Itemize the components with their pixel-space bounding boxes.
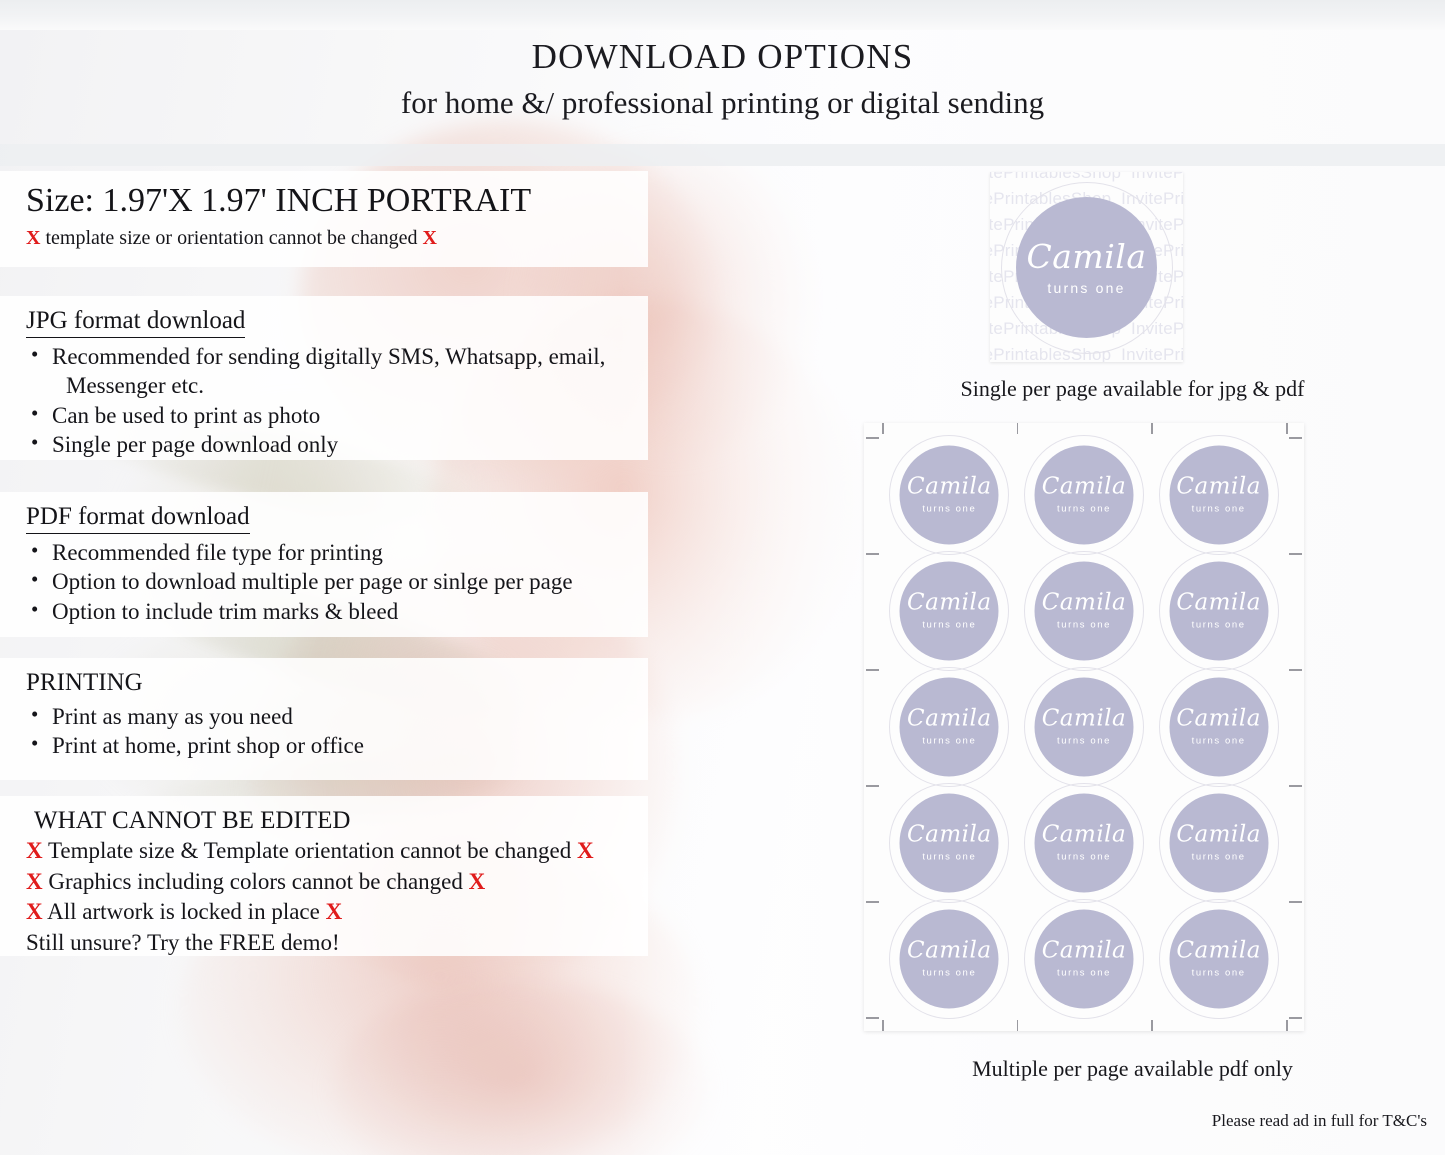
sticker-name: Camila [1176,708,1261,731]
printing-bullet-list: Print as many as you need Print at home,… [26,702,622,761]
page-title: DOWNLOAD OPTIONS [0,36,1445,78]
sticker-subtitle: turns one [922,853,976,863]
sticker-subtitle: turns one [1192,505,1246,515]
sticker-subtitle: turns one [922,737,976,747]
printing-heading: PRINTING [26,668,143,698]
sticker-cell: Camilaturns one [1151,901,1286,1017]
x-mark-lead: X [26,838,43,863]
sticker-name: Camila [1176,592,1261,615]
trim-mark [882,1020,884,1031]
trim-mark [1017,423,1019,434]
sticker-name: Camila [907,592,992,615]
sticker-disc: Camila turns one [1016,197,1157,338]
x-mark-lead: X [26,227,40,249]
trim-mark [1289,553,1302,555]
sticker-name: Camila [907,940,992,963]
page-header: DOWNLOAD OPTIONS for home &/ professiona… [0,36,1445,121]
x-mark-lead: X [26,869,43,894]
sticker-disc: Camilaturns one [1169,910,1268,1009]
sticker-cell: Camilaturns one [882,553,1017,669]
list-item: Messenger etc. [26,371,622,400]
sticker-disc: Camilaturns one [900,562,999,661]
jpg-heading: JPG format download [26,306,245,338]
trim-mark [1017,1020,1019,1031]
sticker-cell: Camilaturns one [1017,553,1152,669]
sticker-name: Camila [907,824,992,847]
sticker-cell: Camilaturns one [1151,437,1286,553]
cannot-edit-heading-wrap: WHAT CANNOT BE EDITED [26,806,622,836]
list-item: Print at home, print shop or office [26,731,622,760]
sticker-disc: Camilaturns one [1034,910,1133,1009]
sticker-cell: Camilaturns one [1017,785,1152,901]
trim-mark [1289,1017,1302,1019]
sticker-cell: Camilaturns one [1017,669,1152,785]
size-title: Size: 1.97'X 1.97' INCH PORTRAIT [26,181,622,220]
pdf-bullet-list: Recommended file type for printing Optio… [26,538,622,626]
cannot-edit-line: X Template size & Template orientation c… [26,836,622,867]
list-item: Option to include trim marks & bleed [26,597,622,626]
sticker-subtitle: turns one [1192,969,1246,979]
trim-mark [866,669,879,671]
sticker-disc: Camilaturns one [1034,562,1133,661]
sticker-subtitle: turns one [1057,853,1111,863]
sticker-name: Camila [1042,476,1127,499]
sticker-subtitle: turns one [1057,621,1111,631]
sticker-name: Camila [1176,476,1261,499]
x-mark-trail: X [326,899,343,924]
panel-jpg-format: JPG format download Recommended for send… [0,296,648,460]
sticker-subtitle: turns one [922,969,976,979]
size-note-text: template size or orientation cannot be c… [45,227,417,249]
sticker-subtitle: turns one [1057,969,1111,979]
sticker-subtitle: turns one [922,505,976,515]
single-sticker-preview: InvitePrintablesShop InvitePrintablesSho… [990,172,1183,362]
sticker-cell: Camilaturns one [882,901,1017,1017]
sticker-subtitle: turns one [1057,505,1111,515]
x-mark-trail: X [423,227,437,249]
panel-size: Size: 1.97'X 1.97' INCH PORTRAIT X templ… [0,171,648,267]
sticker-name: Camila [1027,240,1147,273]
cannot-edit-line: X Graphics including colors cannot be ch… [26,867,622,898]
sticker-disc: Camilaturns one [1034,446,1133,545]
sticker-name: Camila [1176,940,1261,963]
pdf-heading-wrap: PDF format download [26,502,622,534]
trim-mark [1289,901,1302,903]
multi-preview-caption: Multiple per page available pdf only [820,1056,1445,1082]
sticker-name: Camila [1042,940,1127,963]
list-item: Recommended file type for printing [26,538,622,567]
sticker-name: Camila [907,708,992,731]
sticker-subtitle: turns one [1192,621,1246,631]
trim-mark [882,423,884,434]
jpg-heading-wrap: JPG format download [26,306,622,338]
sticker-name: Camila [1176,824,1261,847]
sticker-cell: Camilaturns one [1017,437,1152,553]
cannot-edit-text: Still unsure? Try the FREE demo! [26,930,340,955]
sticker-name: Camila [1042,592,1127,615]
sticker-disc: Camilaturns one [1169,678,1268,777]
x-mark-trail: X [577,838,594,863]
trim-mark [866,1017,879,1019]
sticker-subtitle: turns one [922,621,976,631]
trim-mark [1289,437,1302,439]
list-item: Single per page download only [26,430,622,459]
panel-printing: PRINTING Print as many as you need Print… [0,658,648,780]
sticker-grid: Camilaturns oneCamilaturns oneCamilaturn… [882,437,1286,1017]
trim-mark [1289,669,1302,671]
cannot-edit-line: Still unsure? Try the FREE demo! [26,928,622,959]
sticker-disc: Camilaturns one [1169,562,1268,661]
cannot-edit-line: X All artwork is locked in place X [26,897,622,928]
sticker-disc: Camilaturns one [1169,446,1268,545]
trim-mark [1289,785,1302,787]
sticker-name: Camila [1042,824,1127,847]
sticker-subtitle: turns one [1047,281,1125,295]
sticker-name: Camila [907,476,992,499]
trim-mark [866,437,879,439]
printing-heading-wrap: PRINTING [26,668,622,698]
trim-mark [1286,423,1288,434]
sticker-cell: Camilaturns one [882,437,1017,553]
sticker-cell: Camilaturns one [1151,553,1286,669]
panel-cannot-be-edited: WHAT CANNOT BE EDITED X Template size & … [0,796,648,956]
trim-mark [866,553,879,555]
sticker-subtitle: turns one [1057,737,1111,747]
list-item: Option to download multiple per page or … [26,567,622,596]
cannot-edit-text: Graphics including colors cannot be chan… [48,869,463,894]
size-note-row: X template size or orientation cannot be… [26,226,622,250]
x-mark-lead: X [26,899,43,924]
sticker-subtitle: turns one [1192,853,1246,863]
sticker-subtitle: turns one [1192,737,1246,747]
cannot-edit-text: Template size & Template orientation can… [48,838,571,863]
sticker-disc: Camilaturns one [900,446,999,545]
list-item: Print as many as you need [26,702,622,731]
download-options-page: DOWNLOAD OPTIONS for home &/ professiona… [0,0,1445,1155]
list-item: Recommended for sending digitally SMS, W… [26,342,622,371]
pdf-heading: PDF format download [26,502,250,534]
page-subtitle: for home &/ professional printing or dig… [0,84,1445,121]
trim-mark [866,901,879,903]
sticker-disc: Camilaturns one [900,794,999,893]
list-item: Can be used to print as photo [26,401,622,430]
x-mark-trail: X [469,869,486,894]
single-preview-caption: Single per page available for jpg & pdf [820,376,1445,402]
sticker-disc: Camilaturns one [1034,794,1133,893]
sticker-disc: Camilaturns one [900,910,999,1009]
trim-mark [1151,1020,1153,1031]
preview-column: InvitePrintablesShop InvitePrintablesSho… [820,0,1445,1155]
sticker-disc: Camilaturns one [1169,794,1268,893]
sticker-name: Camila [1042,708,1127,731]
sticker-disc: Camilaturns one [900,678,999,777]
sticker-disc: Camilaturns one [1034,678,1133,777]
trim-mark [866,785,879,787]
cannot-edit-text: All artwork is locked in place [47,899,320,924]
panel-pdf-format: PDF format download Recommended file typ… [0,492,648,637]
cannot-edit-heading: WHAT CANNOT BE EDITED [26,806,350,836]
jpg-bullet-list: Recommended for sending digitally SMS, W… [26,342,622,460]
sticker-cell: Camilaturns one [1151,785,1286,901]
trim-mark [1151,423,1153,434]
sticker-cell: Camilaturns one [882,669,1017,785]
multi-sticker-sheet: Camilaturns oneCamilaturns oneCamilaturn… [864,423,1304,1031]
sticker-cell: Camilaturns one [1017,901,1152,1017]
sticker-cell: Camilaturns one [882,785,1017,901]
trim-mark [1286,1020,1288,1031]
sticker-cell: Camilaturns one [1151,669,1286,785]
